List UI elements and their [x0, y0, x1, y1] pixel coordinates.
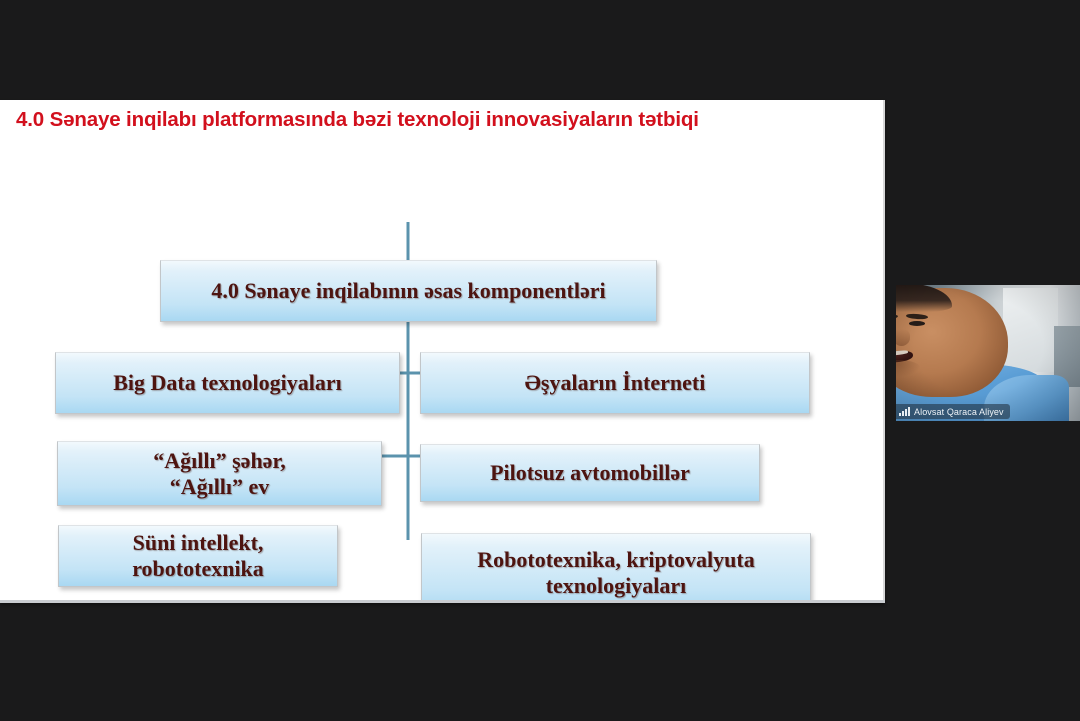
participant-video-tile[interactable]: Alovsat Qaraca Aliyev	[896, 285, 1080, 421]
slide-right-edge	[883, 100, 885, 603]
video-conference-screen: 4.0 Sənaye inqilabının əsas komponentlər…	[0, 0, 1080, 721]
diagram-node-iot-label: Əşyaların İnterneti	[427, 370, 803, 396]
diagram-node-iot[interactable]: Əşyaların İnterneti	[420, 352, 810, 414]
participant-name-label: Alovsat Qaraca Aliyev	[914, 407, 1004, 417]
slide-bottom-edge	[0, 600, 885, 603]
diagram-node-bigdata[interactable]: Big Data texnologiyaları	[55, 352, 400, 414]
participant-name-bar: Alovsat Qaraca Aliyev	[896, 404, 1010, 419]
slide-title: 4.0 Sənaye inqilabı platformasında bəzi …	[16, 108, 866, 132]
diagram-node-root-label: 4.0 Sənaye inqilabının əsas komponentlər…	[167, 278, 650, 304]
presentation-slide: 4.0 Sənaye inqilabının əsas komponentlər…	[0, 100, 885, 603]
video-vignette	[896, 285, 1080, 421]
diagram-node-ai-robotics-label: Süni intellekt,robototexnika	[65, 530, 331, 582]
diagram-node-ai-robotics[interactable]: Süni intellekt,robototexnika	[58, 525, 338, 587]
diagram-node-autonomous-cars-label: Pilotsuz avtomobillər	[427, 460, 753, 486]
diagram-node-root[interactable]: 4.0 Sənaye inqilabının əsas komponentlər…	[160, 260, 657, 322]
diagram-node-autonomous-cars[interactable]: Pilotsuz avtomobillər	[420, 444, 760, 502]
signal-strength-icon	[899, 407, 910, 416]
diagram-node-robotics-crypto[interactable]: Robototexnika, kriptovalyuta texnologiya…	[421, 533, 811, 603]
diagram-node-smart-city-home[interactable]: “Ağıllı” şəhər,“Ağıllı” ev	[57, 441, 382, 506]
diagram-node-bigdata-label: Big Data texnologiyaları	[62, 370, 393, 396]
diagram-node-smart-city-home-label: “Ağıllı” şəhər,“Ağıllı” ev	[64, 448, 375, 500]
diagram-node-robotics-crypto-label: Robototexnika, kriptovalyuta texnologiya…	[428, 547, 804, 599]
